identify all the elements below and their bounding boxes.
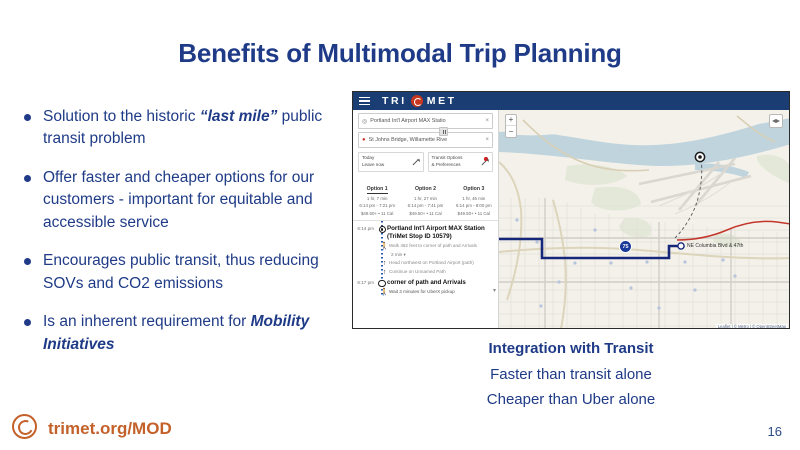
date-time-box[interactable]: Today Leave now xyxy=(358,152,424,172)
origin-target-icon: ◎ xyxy=(362,118,367,125)
option-2-title: Option 2 xyxy=(415,186,436,194)
caption-line-2: Cheaper than Uber alone xyxy=(352,391,790,408)
bullet-text: Encourages public transit, thus reducing… xyxy=(43,250,350,295)
bullet-text: Solution to the historic “last mile” pub… xyxy=(43,106,350,151)
option-1-title: Option 1 xyxy=(367,186,388,195)
tab-option-1[interactable]: Option 1 1 hr, 7 min 6:14 pm - 7:21 pm $… xyxy=(353,177,401,217)
scroll-down-icon[interactable]: ▾ xyxy=(493,287,496,294)
hamburger-menu-icon[interactable] xyxy=(359,97,370,106)
footer-url[interactable]: trimet.org/MOD xyxy=(48,419,172,439)
swap-endpoints-button[interactable] xyxy=(439,127,448,136)
brand-text-left: TRI xyxy=(382,95,407,107)
bullet-text-pre: Offer faster and cheaper options for our… xyxy=(43,169,314,231)
step-time: 6:17 pm xyxy=(357,279,377,285)
walking-person-icon: 🚶 xyxy=(380,243,389,250)
bullet-text-emphasis: “last mile” xyxy=(200,108,278,125)
trip-options-tabs: Option 1 1 hr, 7 min 6:14 pm - 7:21 pm $… xyxy=(353,177,498,221)
destination-value: St Johns Bridge, Willamette Rive xyxy=(369,137,486,143)
walk-arrow-icon: ↑ xyxy=(380,260,389,267)
itinerary-step-wait: 🚶 Wait 3 minutes for UberX pickup xyxy=(353,289,498,296)
app-header: TRI MET xyxy=(353,92,789,110)
trip-planner-screenshot: TRI MET ◎ Portland Int'l Airport MAX Sta… xyxy=(352,91,790,329)
option-2-cost: $49.50+ • 11 Cal xyxy=(402,210,448,217)
list-item: Is an inherent requirement for Mobility … xyxy=(14,311,350,356)
destination-input[interactable]: ● St Johns Bridge, Willamette Rive × xyxy=(358,132,493,148)
bullet-dot-icon xyxy=(24,114,31,121)
pencil-edit-icon[interactable] xyxy=(480,157,489,166)
itinerary-substep-1: ↑ Head northwest on Portland Airport (pa… xyxy=(353,260,498,267)
option-2-window: 6:14 pm - 7:41 pm xyxy=(402,202,448,209)
trimet-swirl-logo xyxy=(12,414,37,439)
map-attribution[interactable]: Leaflet | © Metro | © OpenStreetMap xyxy=(716,324,788,329)
map-layers-icon xyxy=(772,119,780,123)
zoom-in-button[interactable]: + xyxy=(506,115,516,126)
prefs-label-1: Transit Options xyxy=(432,155,463,162)
map-canvas xyxy=(499,110,789,329)
destination-clear-icon[interactable]: × xyxy=(485,137,489,143)
zoom-out-button[interactable]: − xyxy=(506,126,516,137)
origin-target-icon xyxy=(377,225,387,233)
option-1-cost: $49.50+ • 11 Cal xyxy=(354,210,400,217)
option-1-window: 6:14 pm - 7:21 pm xyxy=(354,202,400,209)
origin-clear-icon[interactable]: × xyxy=(485,118,489,124)
origin-input[interactable]: ◎ Portland Int'l Airport MAX Statio × xyxy=(358,113,493,129)
slide: Benefits of Multimodal Trip Planning Sol… xyxy=(0,0,800,450)
transit-preferences-box[interactable]: Transit Options & Preferences xyxy=(428,152,494,172)
itinerary-step-origin[interactable]: 6:14 pm Portland Int'l Airport MAX Stati… xyxy=(353,225,498,241)
map-view[interactable]: + − 75 NE Columbia Blvd & 47th Leaflet |… xyxy=(499,110,789,329)
map-layers-button[interactable] xyxy=(769,114,783,128)
transfer-point-icon xyxy=(377,279,387,287)
step-label: Portland Int'l Airport MAX Station (TriM… xyxy=(387,225,494,241)
bullet-text: Offer faster and cheaper options for our… xyxy=(43,167,350,234)
destination-pin-icon: ● xyxy=(362,137,366,143)
preferences-text: Transit Options & Preferences xyxy=(432,155,463,169)
route-badge-75[interactable]: 75 xyxy=(619,240,632,253)
itinerary-substep-2: ↑ Continue on Unnamed Path xyxy=(353,269,498,276)
date-time-text: Today Leave now xyxy=(362,155,384,169)
notification-dot-icon xyxy=(484,157,488,161)
date-label: Today xyxy=(362,155,384,162)
step-label: Head northwest on Portland Airport (path… xyxy=(389,260,498,266)
page-title: Benefits of Multimodal Trip Planning xyxy=(0,38,800,69)
option-3-duration: 1 hr, 46 min xyxy=(451,195,497,202)
itinerary-step-transfer[interactable]: 6:17 pm corner of path and Arrivals xyxy=(353,279,498,287)
wait-person-icon: 🚶 xyxy=(380,289,389,296)
bullet-dot-icon xyxy=(24,175,31,182)
walk-arrow-icon: ↑ xyxy=(380,269,389,276)
caption-block: Integration with Transit Faster than tra… xyxy=(352,340,790,416)
tab-option-3[interactable]: Option 3 1 hr, 46 min 6:14 pm - 8:00 pm … xyxy=(450,177,498,217)
caption-line-1: Faster than transit alone xyxy=(352,366,790,383)
itinerary-list: 6:14 pm Portland Int'l Airport MAX Stati… xyxy=(353,221,498,296)
bullet-list: Solution to the historic “last mile” pub… xyxy=(14,106,350,372)
brand-text-right: MET xyxy=(427,95,457,107)
trimet-swirl-icon xyxy=(411,95,423,107)
option-2-duration: 1 hr, 27 min xyxy=(402,195,448,202)
option-3-window: 6:14 pm - 8:00 pm xyxy=(451,202,497,209)
list-item: Encourages public transit, thus reducing… xyxy=(14,250,350,295)
page-number: 16 xyxy=(768,424,782,439)
step-time: 6:14 pm xyxy=(357,225,377,231)
bullet-dot-icon xyxy=(24,319,31,326)
origin-value: Portland Int'l Airport MAX Statio xyxy=(370,118,485,124)
step-label: corner of path and Arrivals xyxy=(387,279,494,287)
tab-option-2[interactable]: Option 2 1 hr, 27 min 6:14 pm - 7:41 pm … xyxy=(401,177,449,217)
option-1-duration: 1 hr, 7 min xyxy=(354,195,400,202)
walk-duration-toggle[interactable]: 2 min ▾ xyxy=(353,252,498,258)
bullet-text-pre: Is an inherent requirement for xyxy=(43,313,251,330)
bullet-dot-icon xyxy=(24,258,31,265)
map-zoom-controls[interactable]: + − xyxy=(505,114,517,138)
step-label: Wait 3 minutes for UberX pickup xyxy=(389,289,498,295)
caption-heading: Integration with Transit xyxy=(352,340,790,357)
depart-label: Leave now xyxy=(362,162,384,169)
option-3-title: Option 3 xyxy=(463,186,484,194)
map-stop-label: NE Columbia Blvd & 47th xyxy=(687,243,743,249)
list-item: Solution to the historic “last mile” pub… xyxy=(14,106,350,151)
step-label: Continue on Unnamed Path xyxy=(389,269,498,275)
bullet-text: Is an inherent requirement for Mobility … xyxy=(43,311,350,356)
step-label: Walk 482 feet to corner of path and Arri… xyxy=(389,243,498,249)
trip-settings-bar: Today Leave now Transit Options & Prefer… xyxy=(358,152,493,172)
itinerary-step-walk[interactable]: 🚶 Walk 482 feet to corner of path and Ar… xyxy=(353,243,498,250)
bullet-text-pre: Solution to the historic xyxy=(43,108,200,125)
app-body: ◎ Portland Int'l Airport MAX Statio × ● … xyxy=(353,110,789,329)
trimet-brand: TRI MET xyxy=(382,95,457,107)
prefs-label-2: & Preferences xyxy=(432,162,463,169)
bullet-text-pre: Encourages public transit, thus reducing… xyxy=(43,252,319,291)
list-item: Offer faster and cheaper options for our… xyxy=(14,167,350,234)
pencil-edit-icon[interactable] xyxy=(411,157,420,166)
option-3-cost: $49.50+ • 11 Cal xyxy=(451,210,497,217)
trip-panel: ◎ Portland Int'l Airport MAX Statio × ● … xyxy=(353,110,499,329)
